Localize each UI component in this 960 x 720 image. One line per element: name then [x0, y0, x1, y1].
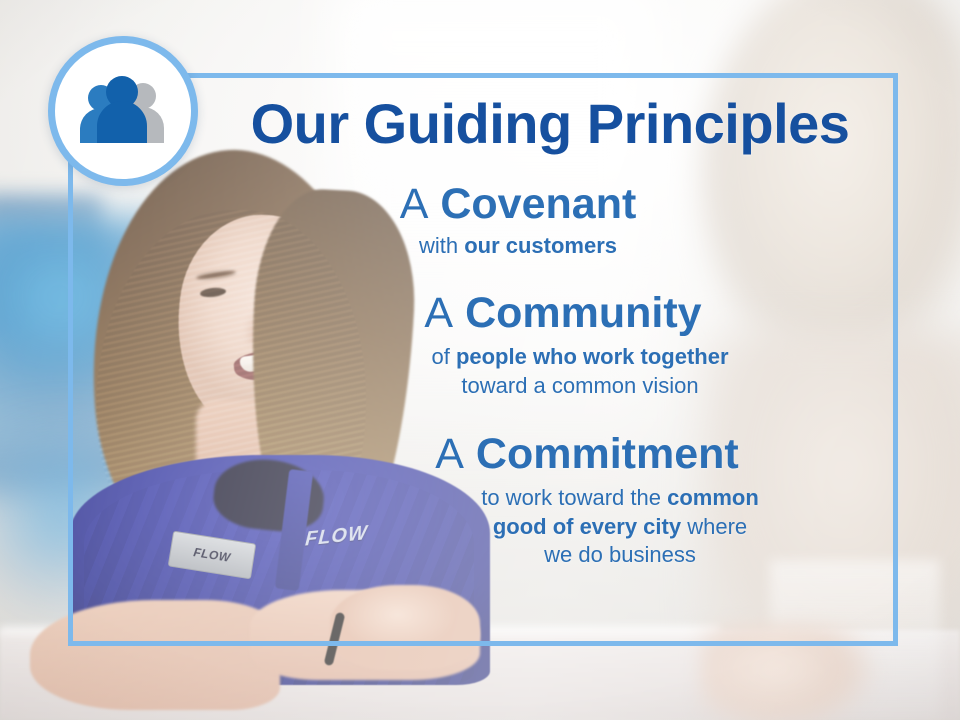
- principle-sub-emphasis: people who work together: [456, 344, 729, 369]
- principle-sub-emphasis: our customers: [464, 233, 617, 258]
- principle-commitment: A Commitment to work toward the common g…: [200, 430, 900, 570]
- guiding-principles-banner: FLOW FLOW Our Guiding Principles: [0, 0, 960, 720]
- principle-heading: A Community: [200, 289, 900, 337]
- principle-article: A: [400, 180, 429, 228]
- principle-heading: A Commitment: [200, 430, 900, 478]
- principle-sub-line2: good of every city where: [340, 513, 900, 542]
- people-group-icon: [75, 76, 171, 146]
- people-group-badge: [48, 36, 198, 186]
- principle-keyword: Commitment: [476, 430, 739, 478]
- principle-community: A Community of people who work together …: [200, 289, 900, 400]
- principle-sub-line3: we do business: [340, 541, 900, 570]
- principle-subtitle: with our customers: [200, 232, 900, 261]
- principle-sub-prefix: to work toward the: [481, 485, 667, 510]
- blurred-customer-hand: [700, 625, 890, 720]
- principle-sub-line2: toward a common vision: [260, 372, 900, 401]
- principle-keyword: Community: [465, 289, 702, 337]
- principle-sub-line1: of people who work together: [260, 343, 900, 372]
- principle-article: A: [424, 289, 453, 337]
- principle-sub-prefix: of: [431, 344, 455, 369]
- principle-keyword: Covenant: [440, 180, 636, 228]
- principle-article: A: [435, 430, 464, 478]
- principle-sub-line2-suffix: where: [681, 514, 747, 539]
- principle-sub-emphasis: common: [667, 485, 759, 510]
- principle-heading: A Covenant: [200, 180, 900, 228]
- page-title: Our Guiding Principles: [205, 96, 895, 152]
- principle-sub-line1: to work toward the common: [340, 484, 900, 513]
- employee-arm-left: [30, 600, 280, 710]
- principles-list: A Covenant with our customers A Communit…: [200, 180, 900, 570]
- principle-covenant: A Covenant with our customers: [200, 180, 900, 261]
- principle-sub-prefix: with: [419, 233, 464, 258]
- principle-subtitle: to work toward the common good of every …: [200, 484, 900, 570]
- principle-subtitle: of people who work together toward a com…: [200, 343, 900, 400]
- principle-sub-line2-emphasis: good of every city: [493, 514, 681, 539]
- employee-clasped-hands: [330, 585, 480, 670]
